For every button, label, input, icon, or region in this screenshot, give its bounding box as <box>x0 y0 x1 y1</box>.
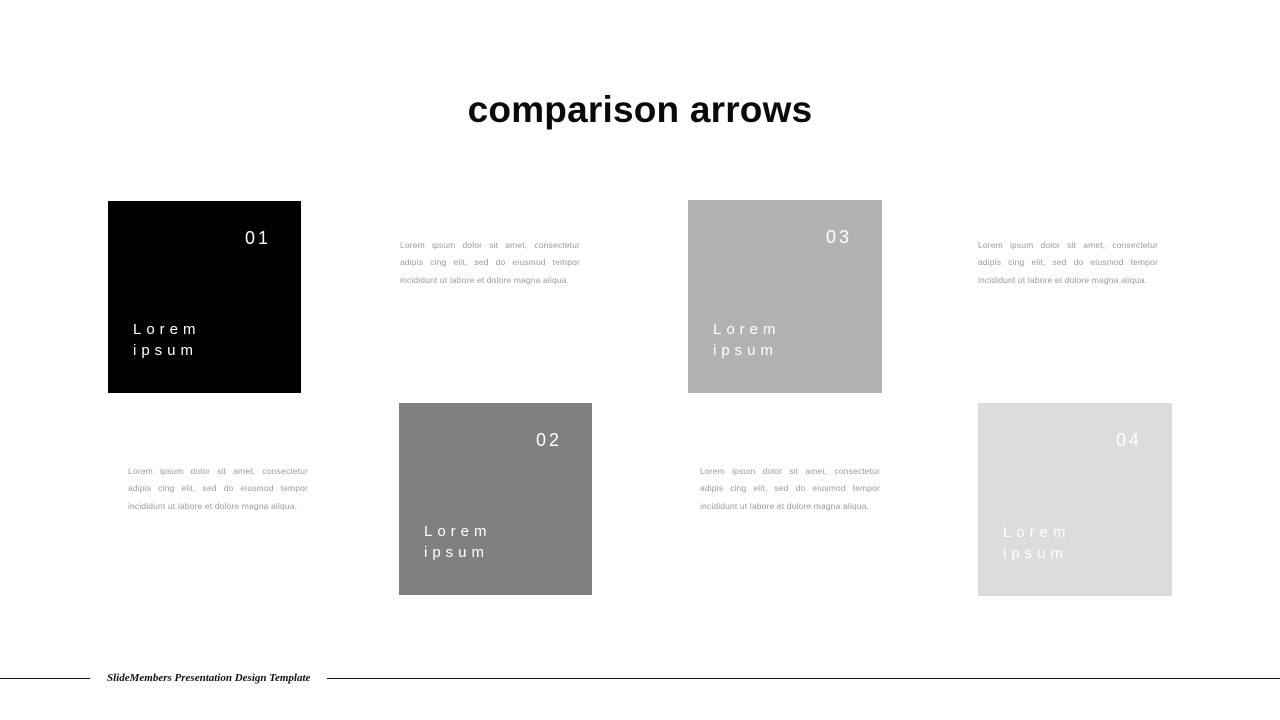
card-label-line1: Lorem <box>713 319 781 340</box>
description-text-02: Lorem ipsum dolor sit amet, consectetur … <box>400 237 580 289</box>
comparison-card-03[interactable]: 03 Lorem ipsum <box>688 200 882 393</box>
card-label-line2: ipsum <box>1003 543 1071 564</box>
comparison-card-01[interactable]: 01 Lorem ipsum <box>108 201 301 393</box>
card-number-04: 04 <box>1116 430 1142 451</box>
slide-canvas: comparison arrows 01 Lorem ipsum 02 Lore… <box>0 0 1280 720</box>
card-label-line1: Lorem <box>133 319 201 340</box>
card-label-line1: Lorem <box>424 521 492 542</box>
comparison-card-04[interactable]: 04 Lorem ipsum <box>978 403 1172 596</box>
comparison-card-02[interactable]: 02 Lorem ipsum <box>399 403 592 595</box>
card-label-02: Lorem ipsum <box>424 521 492 563</box>
card-label-01: Lorem ipsum <box>133 319 201 361</box>
slide-footer: SlideMembers Presentation Design Templat… <box>0 667 1280 689</box>
card-label-line1: Lorem <box>1003 522 1071 543</box>
card-label-04: Lorem ipsum <box>1003 522 1071 564</box>
footer-rule-right <box>327 678 1280 679</box>
description-text-03: Lorem ipsum dolor sit amet, consectetur … <box>700 463 880 515</box>
card-label-line2: ipsum <box>133 340 201 361</box>
page-title: comparison arrows <box>0 88 1280 132</box>
description-text-01: Lorem ipsum dolor sit amet, consectetur … <box>128 463 308 515</box>
card-label-line2: ipsum <box>713 340 781 361</box>
footer-rule-left <box>0 678 90 679</box>
description-text-04: Lorem ipsum dolor sit amet, consectetur … <box>978 237 1158 289</box>
footer-credit-text: SlideMembers Presentation Design Templat… <box>90 672 327 684</box>
card-label-line2: ipsum <box>424 542 492 563</box>
card-number-03: 03 <box>826 227 852 248</box>
card-number-02: 02 <box>536 430 562 451</box>
card-number-01: 01 <box>245 228 271 249</box>
card-label-03: Lorem ipsum <box>713 319 781 361</box>
